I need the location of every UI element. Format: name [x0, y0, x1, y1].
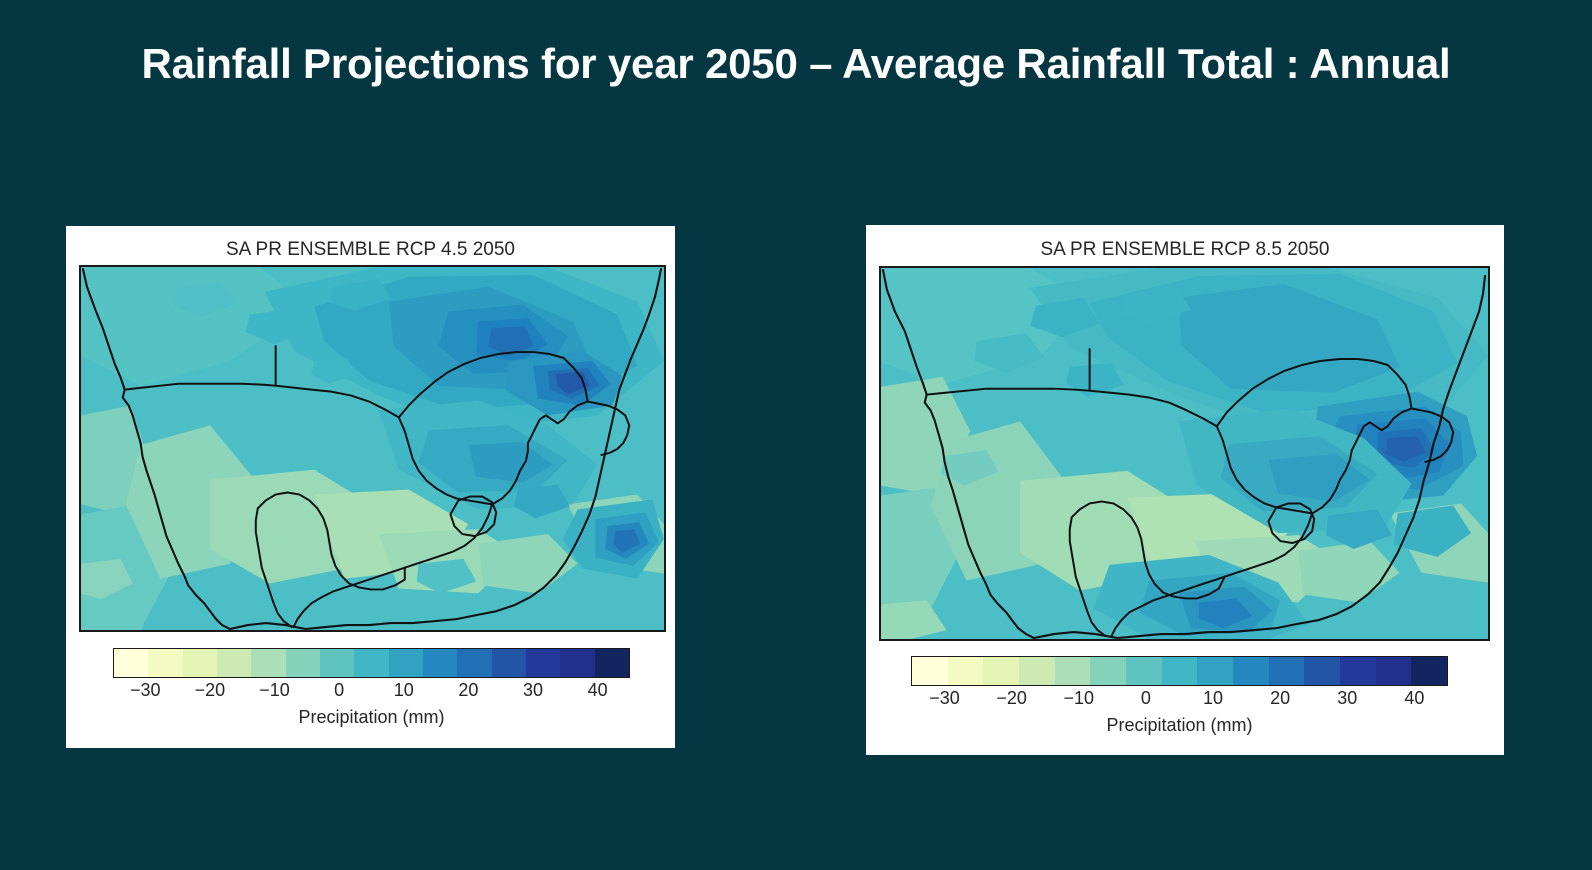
colorbar-axis-label-left: Precipitation (mm) — [113, 707, 630, 728]
map-plot-rcp45 — [79, 265, 666, 632]
page-root: Rainfall Projections for year 2050 – Ave… — [0, 0, 1592, 870]
colorbar-swatch — [1019, 657, 1055, 685]
map-contour-svg-right — [881, 268, 1488, 639]
colorbar-swatch — [354, 649, 388, 677]
colorbar-tick: −30 — [130, 680, 161, 701]
colorbar-tick: −10 — [259, 680, 290, 701]
colorbar-swatch — [1340, 657, 1376, 685]
colorbar-tick: 10 — [1203, 688, 1223, 709]
colorbar-swatch — [1055, 657, 1091, 685]
page-title: Rainfall Projections for year 2050 – Ave… — [0, 40, 1592, 88]
colorbar-swatch — [389, 649, 423, 677]
colorbar-swatch — [948, 657, 984, 685]
colorbar-tick: 30 — [1337, 688, 1357, 709]
colorbar-swatch — [1197, 657, 1233, 685]
colorbar-swatch — [286, 649, 320, 677]
map-plot-rcp85 — [879, 266, 1490, 641]
colorbar-swatch — [251, 649, 285, 677]
colorbar-tick: −30 — [929, 688, 960, 709]
colorbar-axis-label-right: Precipitation (mm) — [911, 715, 1448, 736]
colorbar-swatch — [526, 649, 560, 677]
colorbar-swatch — [560, 649, 594, 677]
colorbar-swatch — [114, 649, 148, 677]
colorbar-gradient-right — [911, 656, 1448, 686]
colorbar-tick: −20 — [996, 688, 1027, 709]
colorbar-swatch — [1090, 657, 1126, 685]
colorbar-swatch — [1304, 657, 1340, 685]
colorbar-swatch — [1269, 657, 1305, 685]
colorbar-swatch — [320, 649, 354, 677]
colorbar-swatch — [912, 657, 948, 685]
colorbar-tick: 10 — [394, 680, 414, 701]
colorbar-tick: −20 — [195, 680, 226, 701]
colorbar-ticks-right: −30 −20 −10 0 10 20 30 40 — [911, 688, 1448, 712]
colorbar-swatch — [983, 657, 1019, 685]
panel-title-left: SA PR ENSEMBLE RCP 4.5 2050 — [66, 239, 675, 261]
colorbar-rcp45: −30 −20 −10 0 10 20 30 40 Precipitation … — [113, 648, 630, 728]
colorbar-swatch — [148, 649, 182, 677]
colorbar-swatch — [217, 649, 251, 677]
colorbar-tick: 40 — [1404, 688, 1424, 709]
colorbar-tick: 0 — [1141, 688, 1151, 709]
colorbar-swatch — [1162, 657, 1198, 685]
figure-card-rcp45: SA PR ENSEMBLE RCP 4.5 2050 — [66, 226, 675, 748]
colorbar-swatch — [595, 649, 629, 677]
colorbar-tick: 30 — [523, 680, 543, 701]
colorbar-swatch — [1126, 657, 1162, 685]
colorbar-swatch — [457, 649, 491, 677]
panel-title-right: SA PR ENSEMBLE RCP 8.5 2050 — [866, 239, 1504, 261]
colorbar-swatch — [1233, 657, 1269, 685]
colorbar-tick: 0 — [334, 680, 344, 701]
contour-fill-group — [881, 268, 1488, 639]
colorbar-tick: 40 — [588, 680, 608, 701]
colorbar-swatch — [183, 649, 217, 677]
figure-card-rcp85: SA PR ENSEMBLE RCP 8.5 2050 — [866, 225, 1504, 755]
colorbar-swatch — [1411, 657, 1447, 685]
colorbar-swatch — [423, 649, 457, 677]
contour-fill-group — [81, 267, 664, 630]
colorbar-tick: 20 — [458, 680, 478, 701]
colorbar-tick: −10 — [1064, 688, 1095, 709]
colorbar-gradient-left — [113, 648, 630, 678]
colorbar-tick: 20 — [1270, 688, 1290, 709]
colorbar-rcp85: −30 −20 −10 0 10 20 30 40 Precipitation … — [911, 656, 1448, 736]
colorbar-ticks-left: −30 −20 −10 0 10 20 30 40 — [113, 680, 630, 704]
map-contour-svg-left — [81, 267, 664, 630]
colorbar-swatch — [1376, 657, 1412, 685]
colorbar-swatch — [492, 649, 526, 677]
